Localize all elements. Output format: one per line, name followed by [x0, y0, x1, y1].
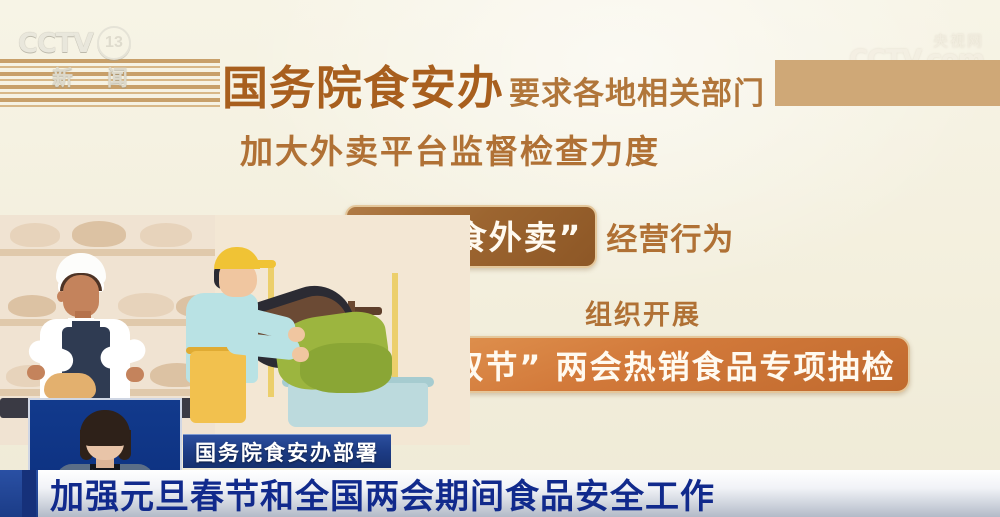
headline-line-1: 国务院食安办 要求各地相关部门 — [222, 52, 765, 118]
cctv-logo-subtitle: 新 闻 — [52, 62, 142, 92]
cctv-logo-text: CCTV — [18, 28, 93, 59]
headline-line-3-suffix: 经营行为 — [606, 214, 734, 259]
lower-third-kicker-text: 国务院食安办部署 — [195, 437, 379, 467]
lower-third-kicker: 国务院食安办部署 — [183, 434, 391, 468]
dough-shape — [44, 373, 96, 399]
highlight-chip-spot-check: “双节” 两会热销食品专项抽检 — [414, 336, 910, 393]
lower-third-title-text: 加强元旦春节和全国两会期间食品安全工作 — [50, 469, 715, 517]
headline-line-2: 加大外卖平台监督检查力度 — [240, 125, 660, 173]
broadcast-screen: CCTV 13 新 闻 央视网 CCTV.com 国务院食安办 要求各地相关部门… — [0, 0, 1000, 517]
headline-line-4: 组织开展 — [585, 293, 701, 332]
lower-third-edge — [22, 470, 36, 517]
tan-accent-block — [775, 60, 1000, 106]
cctv-logo-number: 13 — [97, 26, 131, 60]
headline-emphasis: 国务院食安办 — [222, 52, 504, 118]
lower-third-title: 加强元旦春节和全国两会期间食品安全工作 — [50, 470, 715, 517]
headline-line-1-rest: 要求各地相关部门 — [509, 68, 765, 113]
cctv-channel-logo: CCTV 13 — [18, 26, 193, 60]
